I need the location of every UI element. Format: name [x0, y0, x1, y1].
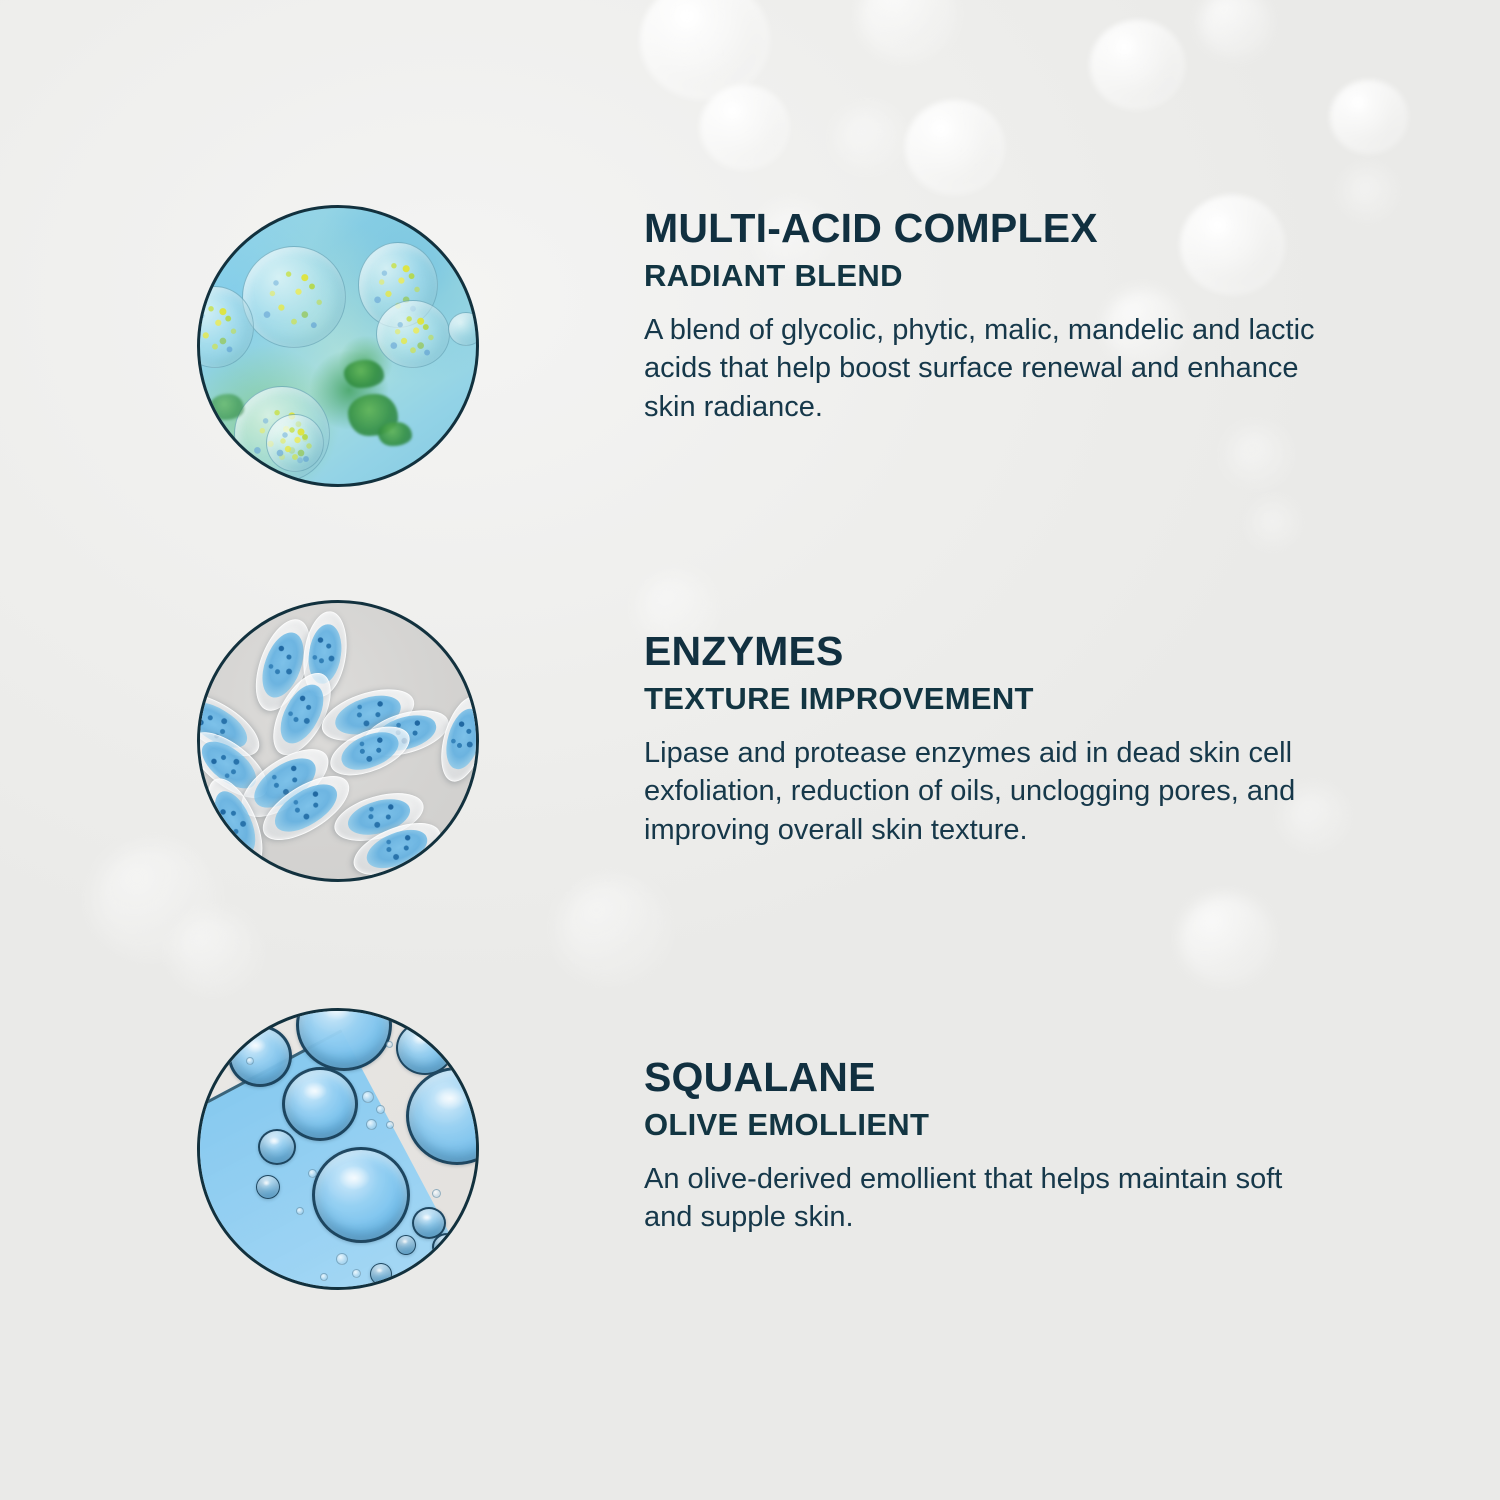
ingredient-description: An olive-derived emollient that helps ma… [644, 1160, 1327, 1238]
micro-bubble [376, 1105, 385, 1114]
micro-bubble [362, 1091, 374, 1103]
oil-droplets-macro [197, 1008, 479, 1290]
oil-droplet [282, 1067, 358, 1141]
background-bubble [640, 0, 770, 100]
ingredient-title: MULTI-ACID COMPLEX [644, 207, 1327, 250]
algae-granules [270, 418, 319, 467]
ingredient-row-squalane: SQUALANE OLIVE EMOLLIENT An olive-derive… [197, 1008, 1327, 1290]
oil-droplet [258, 1129, 296, 1165]
oil-droplet [432, 1233, 462, 1261]
micro-bubble [320, 1273, 328, 1281]
micro-bubble [386, 1121, 394, 1129]
ingredient-row-multi-acid-complex: MULTI-ACID COMPLEX RADIANT BLEND A blend… [197, 205, 1327, 487]
background-bubble [700, 85, 790, 170]
oil-droplet [396, 1021, 454, 1075]
ingredient-subtitle: OLIVE EMOLLIENT [644, 1107, 1327, 1143]
oil-droplet [228, 1025, 292, 1087]
macro-content [200, 1011, 476, 1287]
algae-granules [197, 292, 248, 362]
micro-bubble [308, 1169, 317, 1178]
ingredient-subtitle: RADIANT BLEND [644, 258, 1327, 294]
background-bubble [1180, 895, 1272, 983]
background-bubble [560, 880, 665, 980]
micrograph-content [200, 208, 476, 484]
background-bubble [1090, 20, 1185, 110]
micro-bubble [246, 1057, 254, 1065]
ingredient-copy: SQUALANE OLIVE EMOLLIENT An olive-derive… [644, 1008, 1327, 1237]
micro-bubble [386, 1041, 393, 1048]
oil-droplet [256, 1175, 280, 1199]
micro-bubble [352, 1269, 361, 1278]
algae-cells-micrograph [197, 205, 479, 487]
oil-droplet [312, 1147, 410, 1243]
algae-cell [242, 246, 346, 348]
algae-cell [376, 300, 450, 368]
chloroplast-clump [378, 422, 412, 446]
algae-cell [266, 414, 324, 472]
ingredient-benefits-infographic: MULTI-ACID COMPLEX RADIANT BLEND A blend… [0, 0, 1500, 1500]
micro-bubble [432, 1189, 441, 1198]
oil-droplet [406, 1067, 479, 1165]
algae-granules [381, 305, 444, 363]
ingredient-subtitle: TEXTURE IMPROVEMENT [644, 681, 1327, 717]
background-bubble [860, 0, 955, 60]
algae-cell [448, 312, 479, 346]
background-bubble [175, 915, 255, 991]
algae-granules [249, 253, 339, 341]
background-bubble [905, 100, 1005, 195]
micro-bubble [296, 1207, 304, 1215]
chloroplast-clump [344, 360, 384, 388]
micro-bubble [366, 1119, 377, 1130]
ingredient-title: ENZYMES [644, 630, 1327, 673]
micrograph-content [200, 603, 476, 879]
ingredient-row-enzymes: ENZYMES TEXTURE IMPROVEMENT Lipase and p… [197, 600, 1327, 882]
ingredient-description: A blend of glycolic, phytic, malic, mand… [644, 311, 1327, 428]
micro-bubble [336, 1253, 348, 1265]
chloroplast-clump [210, 394, 244, 420]
enzyme-cell [433, 691, 479, 787]
background-bubble [1200, 0, 1270, 56]
ingredient-copy: MULTI-ACID COMPLEX RADIANT BLEND A blend… [644, 205, 1327, 427]
background-bubble [838, 110, 900, 168]
ingredient-copy: ENZYMES TEXTURE IMPROVEMENT Lipase and p… [644, 600, 1327, 850]
oil-droplet [296, 1008, 392, 1071]
background-bubble [1345, 170, 1393, 216]
enzyme-cells-micrograph [197, 600, 479, 882]
background-bubble [1330, 80, 1408, 154]
oil-droplet [396, 1235, 416, 1255]
oil-droplet [370, 1263, 392, 1285]
ingredient-title: SQUALANE [644, 1056, 1327, 1099]
ingredient-description: Lipase and protease enzymes aid in dead … [644, 734, 1327, 851]
background-bubble [1255, 505, 1295, 543]
